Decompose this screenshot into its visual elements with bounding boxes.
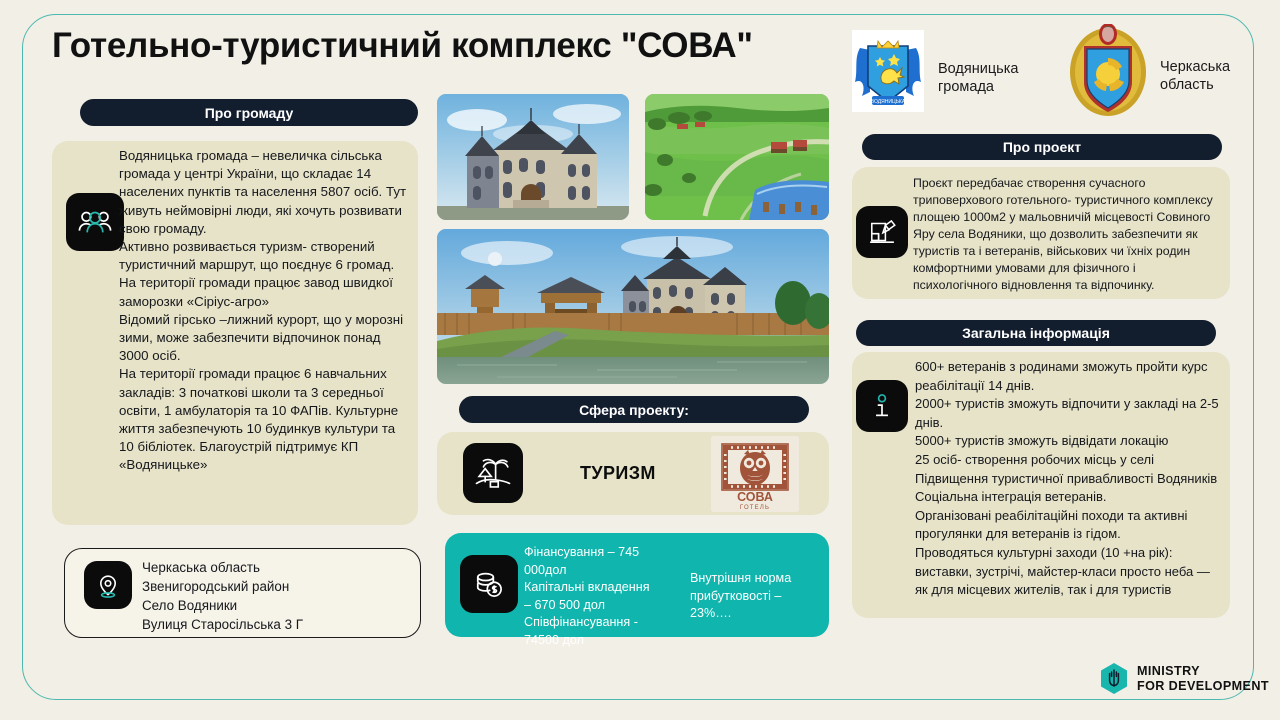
about-project-header-label: Про проект [1003, 139, 1081, 155]
ukraine-trident-hex-icon [1100, 663, 1128, 694]
project-sphere-header: Сфера проекту: [459, 396, 809, 423]
sova-logo-title: СОВА [737, 490, 773, 504]
map-pin-icon [84, 561, 132, 609]
about-project-header: Про проект [862, 134, 1222, 160]
finance-right-text: Внутрішня норма прибутковості – 23%…. [690, 570, 820, 623]
svg-text:ВОДЯНИЦЬКА: ВОДЯНИЦЬКА [871, 99, 906, 105]
photo-aerial-green-valley [645, 94, 829, 220]
general-info-text: 600+ ветеранів з родинами зможуть пройти… [915, 358, 1220, 600]
about-community-header: Про громаду [80, 99, 418, 126]
general-info-header-label: Загальна інформація [962, 325, 1110, 341]
about-community-text: Водяницька громада – невеличка сільська … [119, 147, 407, 475]
page-title: Готельно-туристичний комплекс "СОВА" [52, 26, 852, 66]
location-text: Черкаська область Звенигородський район … [142, 558, 402, 634]
vodianytska-hromada-caption: Водяницька громада [938, 60, 1018, 96]
about-project-text: Проєкт передбачає створення сучасного тр… [913, 175, 1215, 294]
palm-beach-icon [463, 443, 523, 503]
cherkaska-oblast-coat-of-arms [1068, 24, 1148, 116]
blueprint-pencil-icon [856, 206, 908, 258]
sphere-label: ТУРИЗМ [580, 463, 656, 484]
sova-hotel-logo: СОВА ГОТЕЛЬ [711, 436, 799, 512]
info-circle-icon [856, 380, 908, 432]
photo-complex-panorama [437, 229, 829, 384]
ministry-for-development-logo: MINISTRY FOR DEVELOPMENT [1100, 663, 1269, 694]
finance-left-text: Фінансування – 745 000дол Капітальні вкл… [524, 544, 684, 650]
coins-money-icon [460, 555, 518, 613]
vodianytska-hromada-coat-of-arms: ВОДЯНИЦЬКА [852, 30, 924, 112]
ministry-logo-text: MINISTRY FOR DEVELOPMENT [1137, 664, 1269, 693]
photo-castle-front [437, 94, 629, 220]
project-sphere-header-label: Сфера проекту: [579, 402, 689, 418]
slide-root: Готельно-туристичний комплекс "СОВА" ВОД… [0, 0, 1280, 720]
people-group-icon [66, 193, 124, 251]
general-info-header: Загальна інформація [856, 320, 1216, 346]
sova-logo-subtitle: ГОТЕЛЬ [740, 505, 770, 511]
cherkaska-oblast-caption: Черкаська область [1160, 58, 1230, 94]
about-community-header-label: Про громаду [205, 105, 294, 121]
